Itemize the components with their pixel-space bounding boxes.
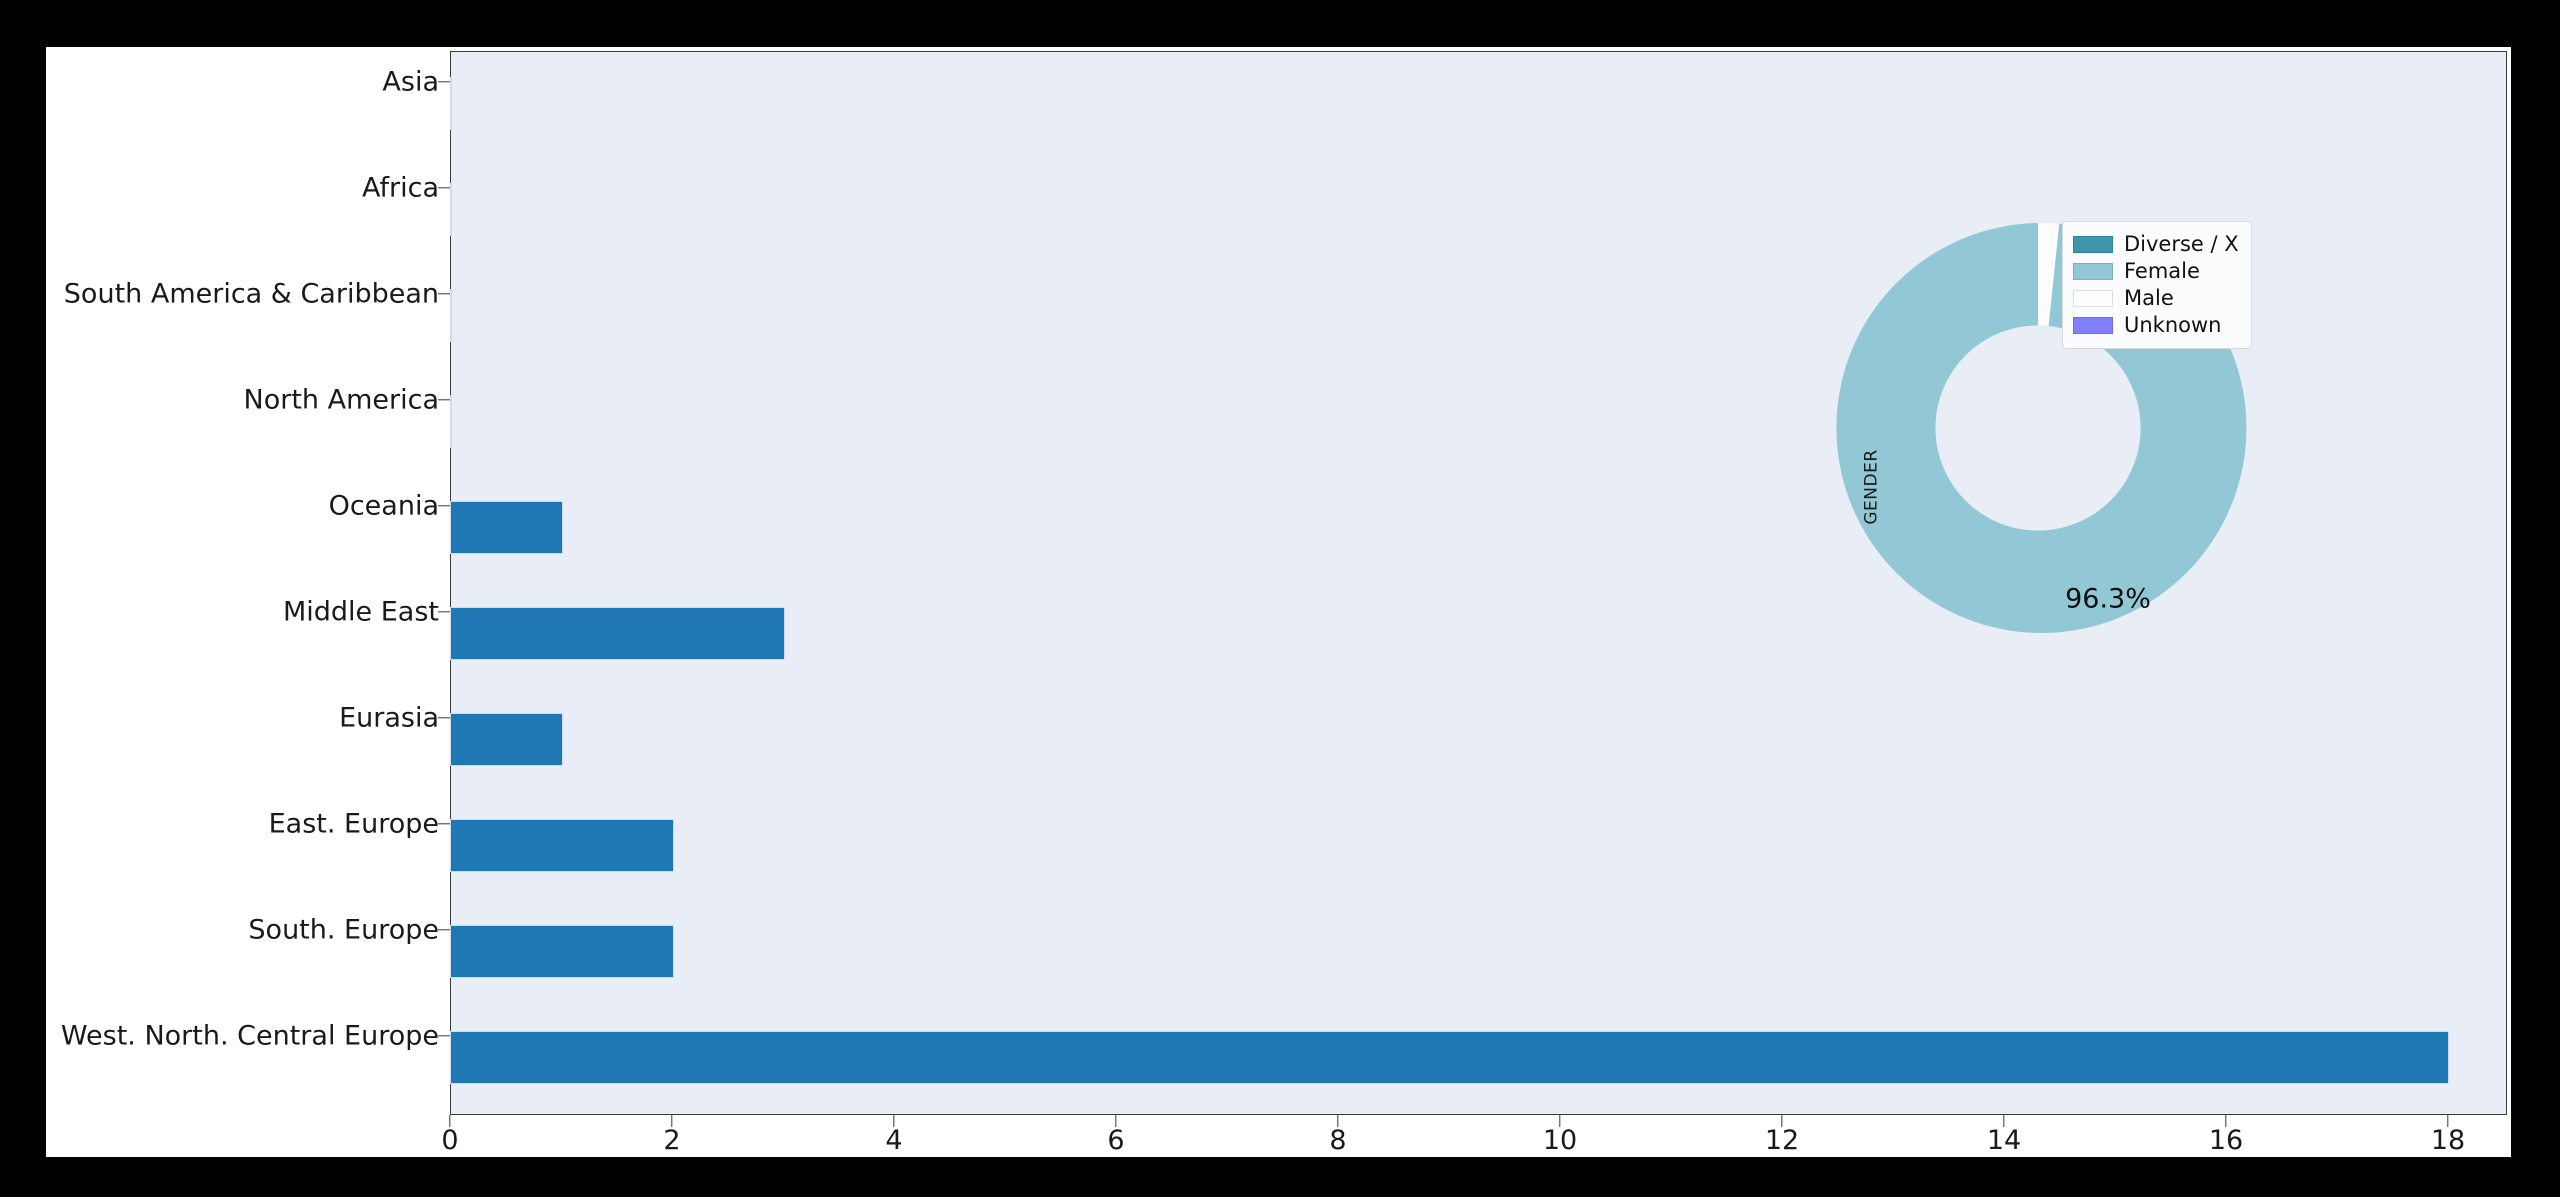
legend-item-diverse-x[interactable]: Diverse / X [2073,231,2239,258]
donut-label-female: 96.3% [2065,586,2151,613]
ytick-mark-north-america [438,399,450,400]
legend-swatch-female [2073,263,2113,280]
ytick-mark-asia [438,81,450,82]
xtick-label-14: 14 [1987,1127,2021,1154]
ytick-label-north-america: North America [244,387,439,414]
bar-west-north-central-europe[interactable] [451,1032,2448,1083]
bar-east-europe[interactable] [451,820,673,871]
ytick-label-middle-east: Middle East [283,599,439,626]
ytick-label-west-north-central-europe: West. North. Central Europe [61,1023,439,1050]
xtick-label-0: 0 [441,1127,458,1154]
ytick-mark-eurasia [438,717,450,718]
xtick-label-18: 18 [2431,1127,2465,1154]
xtick-label-4: 4 [885,1127,902,1154]
ytick-label-eurasia: Eurasia [339,705,439,732]
gender-legend: Diverse / X Female Male Unknown [2062,221,2252,349]
ytick-mark-south-europe [438,929,450,930]
donut-axis-title: GENDER [1862,449,1882,524]
ytick-mark-africa [438,187,450,188]
ytick-mark-west-north-central-europe [438,1035,450,1036]
ytick-label-africa: Africa [362,175,439,202]
legend-swatch-male [2073,290,2113,307]
ytick-mark-east-europe [438,823,450,824]
legend-swatch-unknown [2073,317,2113,334]
bar-oceania[interactable] [451,502,562,553]
bar-south-europe[interactable] [451,926,673,977]
xtick-label-2: 2 [663,1127,680,1154]
xtick-label-16: 16 [2209,1127,2243,1154]
figure-canvas: Asia Africa South America & Caribbean No… [46,47,2511,1157]
xtick-label-10: 10 [1543,1127,1577,1154]
ytick-label-oceania: Oceania [329,493,439,520]
legend-label-male: Male [2124,288,2174,309]
xtick-label-8: 8 [1329,1127,1346,1154]
ytick-label-south-america-caribbean: South America & Caribbean [64,281,439,308]
legend-swatch-diverse-x [2073,236,2113,253]
xtick-label-12: 12 [1765,1127,1799,1154]
ytick-label-east-europe: East. Europe [269,811,439,838]
ytick-label-asia: Asia [382,69,439,96]
legend-item-male[interactable]: Male [2073,285,2239,312]
xtick-label-6: 6 [1107,1127,1124,1154]
legend-label-unknown: Unknown [2124,315,2221,336]
legend-item-unknown[interactable]: Unknown [2073,312,2239,339]
legend-label-female: Female [2124,261,2200,282]
ytick-mark-oceania [438,505,450,506]
donut-hole [1936,326,2141,531]
bar-middle-east[interactable] [451,608,784,659]
ytick-label-south-europe: South. Europe [248,917,439,944]
bar-eurasia[interactable] [451,714,562,765]
ytick-mark-middle-east [438,611,450,612]
legend-label-diverse-x: Diverse / X [2124,234,2239,255]
legend-item-female[interactable]: Female [2073,258,2239,285]
ytick-mark-south-america-caribbean [438,293,450,294]
